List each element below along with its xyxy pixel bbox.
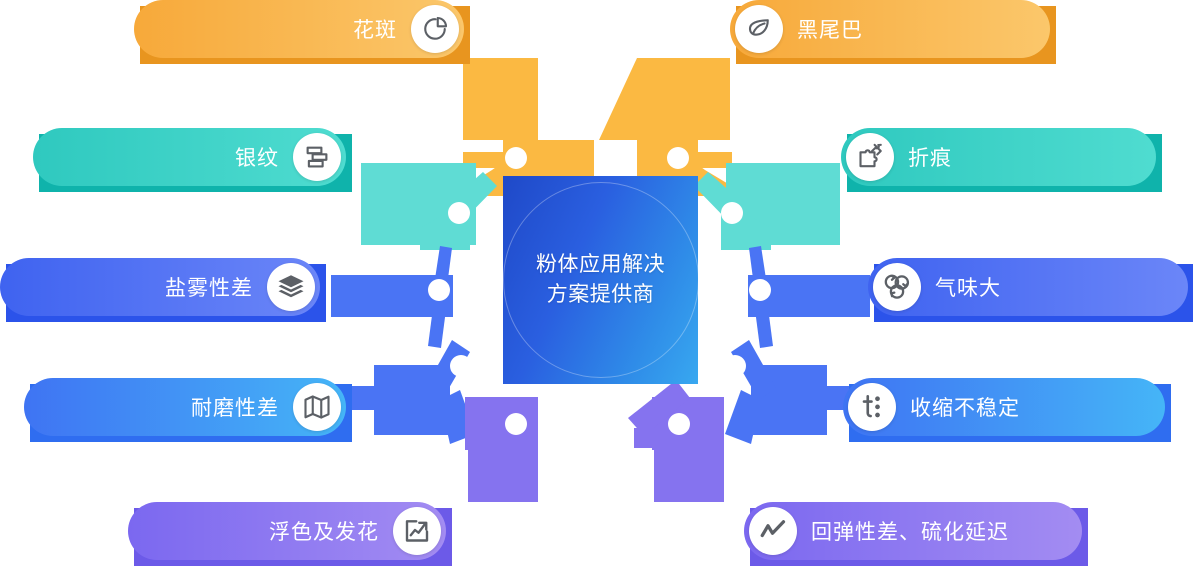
connector-fuse xyxy=(465,397,538,502)
connector-huitan xyxy=(628,380,724,502)
node-label-qiwei: 气味大 xyxy=(935,272,1001,302)
layers-icon xyxy=(267,263,315,311)
node-huitan[interactable]: 回弹性差、硫化延迟 xyxy=(744,502,1082,560)
node-body: 浮色及发花 xyxy=(128,502,446,560)
node-label-zhehen: 折痕 xyxy=(908,142,952,172)
brick-wall-icon xyxy=(293,133,341,181)
map-icon xyxy=(293,383,341,431)
center-node[interactable]: 粉体应用解决 方案提供商 xyxy=(503,176,698,384)
node-heiweiba[interactable]: 黑尾巴 xyxy=(730,0,1050,58)
node-body: 花斑 xyxy=(134,0,464,58)
pie-chart-icon xyxy=(411,5,459,53)
trend-line-icon xyxy=(749,507,797,555)
connector-zhehen xyxy=(694,163,840,250)
node-body: 黑尾巴 xyxy=(730,0,1050,58)
node-label-yanwu: 盐雾性差 xyxy=(165,272,253,302)
node-body: 耐磨性差 xyxy=(24,378,346,436)
node-body: 盐雾性差 xyxy=(0,258,320,316)
node-label-naimo: 耐磨性差 xyxy=(191,392,279,422)
puzzle-icon xyxy=(846,133,894,181)
leaf-icon xyxy=(735,5,783,53)
node-body: 回弹性差、硫化延迟 xyxy=(744,502,1082,560)
recycle-icon xyxy=(873,263,921,311)
node-label-huaban: 花斑 xyxy=(353,14,397,44)
chart-arrow-icon xyxy=(393,507,441,555)
node-body: 银纹 xyxy=(33,128,346,186)
connector-yinwen xyxy=(361,163,497,250)
mind-map-diagram: 粉体应用解决 方案提供商 花斑 黑尾巴 xyxy=(0,0,1193,577)
node-zhehen[interactable]: 折痕 xyxy=(841,128,1156,186)
node-naimo[interactable]: 耐磨性差 xyxy=(24,378,346,436)
node-body: 收缩不稳定 xyxy=(843,378,1165,436)
connector-yanwu xyxy=(331,246,453,348)
node-yinwen[interactable]: 银纹 xyxy=(33,128,346,186)
node-label-fuse: 浮色及发花 xyxy=(269,516,379,546)
node-label-huitan: 回弹性差、硫化延迟 xyxy=(811,516,1009,546)
node-fuse[interactable]: 浮色及发花 xyxy=(128,502,446,560)
node-label-shousuo: 收缩不稳定 xyxy=(910,392,1020,422)
node-huaban[interactable]: 花斑 xyxy=(134,0,464,58)
node-yanwu[interactable]: 盐雾性差 xyxy=(0,258,320,316)
node-body: 气味大 xyxy=(868,258,1188,316)
connector-qiwei xyxy=(748,246,870,348)
node-qiwei[interactable]: 气味大 xyxy=(868,258,1188,316)
center-node-label: 粉体应用解决 方案提供商 xyxy=(536,250,665,310)
list-dots-icon xyxy=(848,383,896,431)
node-shousuo[interactable]: 收缩不稳定 xyxy=(843,378,1165,436)
connector-naimo xyxy=(334,340,476,444)
node-label-heiweiba: 黑尾巴 xyxy=(797,14,863,44)
node-body: 折痕 xyxy=(841,128,1156,186)
node-label-yinwen: 银纹 xyxy=(235,142,279,172)
